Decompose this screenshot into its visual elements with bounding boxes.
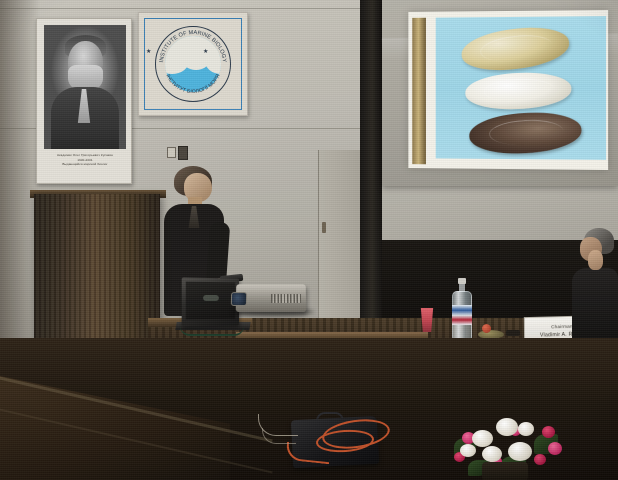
logo-text-uk: ІНСТИТУТ БІОЛОГІЇ МОРЯ <box>164 73 221 95</box>
pink-flower <box>534 454 546 465</box>
institute-logo-poster: INSTITUTE OF MARINE BIOLOGY ІНСТИТУТ БІО… <box>138 12 248 116</box>
shell-ridge <box>484 78 555 103</box>
electrical-box <box>178 146 188 160</box>
laptop-logo <box>203 295 219 301</box>
projection-screen <box>382 0 618 186</box>
apple <box>482 324 491 333</box>
white-flower <box>508 442 532 461</box>
name-card-role: Chairman <box>551 324 573 330</box>
shell-ridge <box>489 118 564 146</box>
white-flower <box>496 418 518 436</box>
projector-vents <box>271 294 301 303</box>
slide-book-spine <box>412 18 426 165</box>
specimen-shell-bottom <box>468 110 582 155</box>
attendee-hand <box>588 250 603 270</box>
hall-door[interactable] <box>318 150 360 340</box>
projector-lens <box>231 292 247 306</box>
logo-text-en: INSTITUTE OF MARINE BIOLOGY <box>159 30 227 63</box>
video-projector[interactable] <box>236 284 307 312</box>
specimen-shell-top <box>460 23 572 75</box>
specimen-shell-middle <box>465 71 572 111</box>
desk-cable <box>180 326 244 336</box>
small-object <box>506 330 520 336</box>
logo-circular-text: INSTITUTE OF MARINE BIOLOGY ІНСТИТУТ БІО… <box>157 28 229 100</box>
lecture-hall-photo: Академик Олег Григорьевич Кусакин 1930-2… <box>0 0 618 480</box>
white-flower <box>518 422 534 436</box>
light-switch-plate[interactable] <box>167 147 176 158</box>
water-bottle[interactable] <box>452 278 472 340</box>
caption-role: Выдающийся морской биолог <box>41 162 129 167</box>
portrait-caption: Академик Олег Григорьевич Кусакин 1930-2… <box>41 153 129 167</box>
white-flower <box>482 446 502 462</box>
shell-ridge <box>479 32 553 65</box>
svg-text:INSTITUTE OF MARINE BIOLOGY: INSTITUTE OF MARINE BIOLOGY <box>159 30 227 63</box>
wall-switch-panel[interactable] <box>167 146 189 160</box>
pink-flower <box>548 442 562 455</box>
seated-attendee <box>572 228 618 340</box>
attendee-body <box>572 268 618 340</box>
flower-bouquet <box>448 404 574 480</box>
white-flower <box>460 444 476 457</box>
memorial-portrait-plaque: Академик Олег Григорьевич Кусакин 1930-2… <box>36 18 132 184</box>
bottle-label <box>452 305 472 325</box>
flower-vase <box>482 462 528 480</box>
slide-photo-area <box>436 16 606 160</box>
portrait-photo <box>44 25 126 149</box>
projected-slide <box>408 10 608 170</box>
svg-text:ІНСТИТУТ БІОЛОГІЇ МОРЯ: ІНСТИТУТ БІОЛОГІЇ МОРЯ <box>164 73 221 95</box>
door-handle[interactable] <box>322 222 326 233</box>
white-flower <box>472 430 493 447</box>
wall-pillar <box>360 0 382 340</box>
pink-flower <box>542 426 555 438</box>
